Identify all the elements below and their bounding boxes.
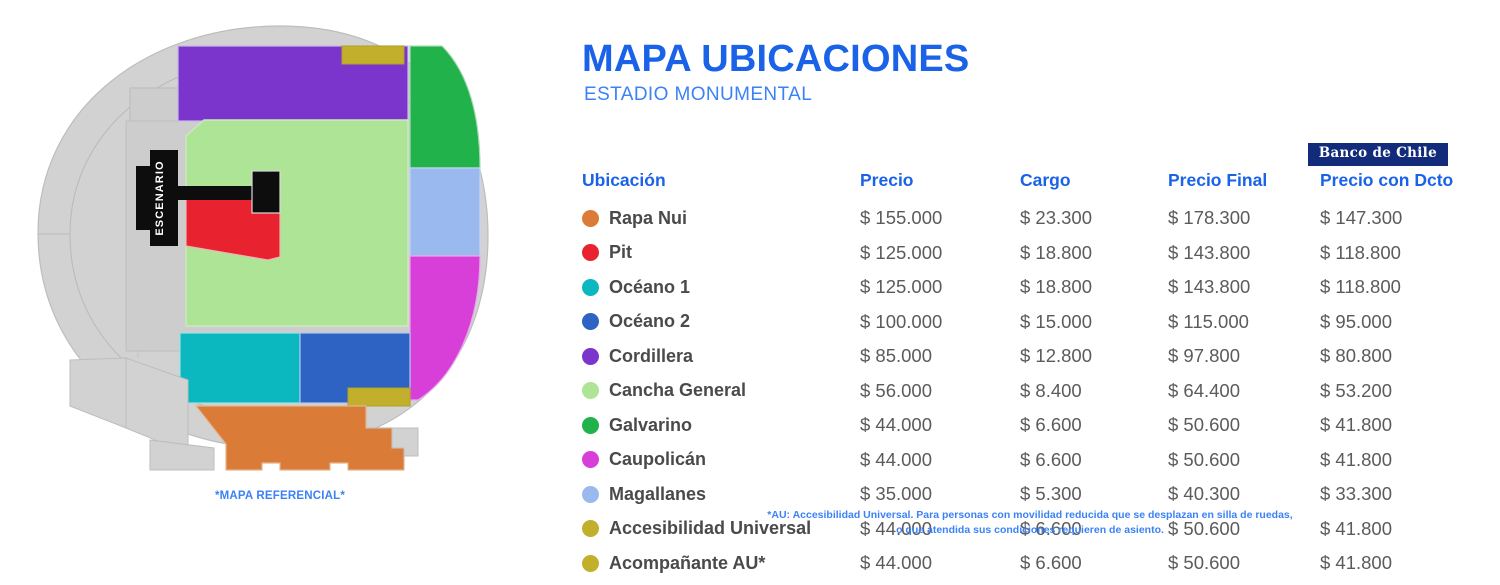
table-row: Cordillera$ 85.000$ 12.800$ 97.800$ 80.8… <box>582 343 1472 378</box>
grey-sector-lower-left-2 <box>70 358 126 428</box>
cell-precio-con-dcto: $ 41.800 <box>1320 447 1472 482</box>
map-zone-accesibilidad-bottom <box>348 388 410 406</box>
zone-color-dot <box>582 210 599 227</box>
table-row: Rapa Nui$ 155.000$ 23.300$ 178.300$ 147.… <box>582 205 1472 240</box>
cell-precio-con-dcto: $ 147.300 <box>1320 205 1472 240</box>
stage-label: ESCENARIO <box>154 160 166 235</box>
cell-precio-final: $ 178.300 <box>1168 205 1320 240</box>
cell-ubicacion: Caupolicán <box>582 447 860 482</box>
zone-label: Cordillera <box>609 346 693 367</box>
cell-precio-con-dcto: $ 118.800 <box>1320 274 1472 309</box>
cell-precio-final: $ 143.800 <box>1168 240 1320 275</box>
zone-label: Océano 2 <box>609 311 690 332</box>
cell-precio-final: $ 50.600 <box>1168 447 1320 482</box>
zone-label: Cancha General <box>609 380 746 401</box>
cell-cargo: $ 23.300 <box>1020 205 1168 240</box>
zone-color-dot <box>582 486 599 503</box>
map-caption: *MAPA REFERENCIAL* <box>0 490 560 502</box>
column-header-precio: Precio <box>860 170 1020 205</box>
map-zone-oceano-1 <box>180 333 300 403</box>
cell-precio: $ 44.000 <box>860 447 1020 482</box>
zone-label: Acompañante AU* <box>609 553 765 574</box>
zone-color-dot <box>582 555 599 572</box>
zone-color-dot <box>582 520 599 537</box>
cell-precio-final: $ 143.800 <box>1168 274 1320 309</box>
footnote-line-1: *AU: Accesibilidad Universal. Para perso… <box>620 508 1440 523</box>
zone-label: Magallanes <box>609 484 706 505</box>
cell-precio-final: $ 50.600 <box>1168 550 1320 585</box>
table-row: Océano 2$ 100.000$ 15.000$ 115.000$ 95.0… <box>582 309 1472 344</box>
table-row: Océano 1$ 125.000$ 18.800$ 143.800$ 118.… <box>582 274 1472 309</box>
cell-ubicacion: Océano 2 <box>582 309 860 344</box>
map-zone-caupolican <box>410 256 480 400</box>
cell-cargo: $ 18.800 <box>1020 274 1168 309</box>
cell-precio: $ 125.000 <box>860 274 1020 309</box>
cell-ubicacion: Acompañante AU* <box>582 550 860 585</box>
zone-label: Pit <box>609 242 632 263</box>
cell-cargo: $ 12.800 <box>1020 343 1168 378</box>
cell-ubicacion: Cordillera <box>582 343 860 378</box>
zone-label: Galvarino <box>609 415 692 436</box>
cell-precio: $ 44.000 <box>860 550 1020 585</box>
cell-cargo: $ 18.800 <box>1020 240 1168 275</box>
zone-color-dot <box>582 244 599 261</box>
cell-precio-con-dcto: $ 80.800 <box>1320 343 1472 378</box>
stadium-map-panel: ESCENARIO *MAPA REFERENCIAL* <box>0 0 560 563</box>
table-header-row: Ubicación Precio Cargo Precio Final Prec… <box>582 170 1472 205</box>
table-row: Pit$ 125.000$ 18.800$ 143.800$ 118.800 <box>582 240 1472 275</box>
footnote: *AU: Accesibilidad Universal. Para perso… <box>620 508 1440 538</box>
map-zone-magallanes <box>410 168 480 256</box>
cell-cargo: $ 6.600 <box>1020 412 1168 447</box>
cell-precio-con-dcto: $ 53.200 <box>1320 378 1472 413</box>
cell-precio: $ 44.000 <box>860 412 1020 447</box>
zone-label: Caupolicán <box>609 449 706 470</box>
zone-label: Rapa Nui <box>609 208 687 229</box>
zone-color-dot <box>582 313 599 330</box>
cell-cargo: $ 6.600 <box>1020 550 1168 585</box>
zone-color-dot <box>582 417 599 434</box>
column-header-precio-con-dcto: Precio con Dcto <box>1320 170 1472 205</box>
column-header-ubicacion: Ubicación <box>582 170 860 205</box>
table-row: Caupolicán$ 44.000$ 6.600$ 50.600$ 41.80… <box>582 447 1472 482</box>
cell-precio: $ 56.000 <box>860 378 1020 413</box>
cell-ubicacion: Galvarino <box>582 412 860 447</box>
stadium-map-svg: ESCENARIO <box>18 8 538 488</box>
cell-cargo: $ 15.000 <box>1020 309 1168 344</box>
cell-precio: $ 100.000 <box>860 309 1020 344</box>
page-subtitle: ESTADIO MONUMENTAL <box>584 84 969 106</box>
cell-precio-con-dcto: $ 41.800 <box>1320 412 1472 447</box>
column-header-precio-final: Precio Final <box>1168 170 1320 205</box>
cell-precio-final: $ 50.600 <box>1168 412 1320 447</box>
zone-color-dot <box>582 348 599 365</box>
table-row: Acompañante AU*$ 44.000$ 6.600$ 50.600$ … <box>582 550 1472 585</box>
zone-color-dot <box>582 279 599 296</box>
column-header-cargo: Cargo <box>1020 170 1168 205</box>
cell-ubicacion: Cancha General <box>582 378 860 413</box>
cell-precio-con-dcto: $ 95.000 <box>1320 309 1472 344</box>
cell-precio: $ 155.000 <box>860 205 1020 240</box>
cell-cargo: $ 6.600 <box>1020 447 1168 482</box>
map-zone-accesibilidad-top <box>342 46 404 64</box>
cell-precio-con-dcto: $ 118.800 <box>1320 240 1472 275</box>
grey-sector-bottom-left <box>150 440 214 470</box>
cell-cargo: $ 8.400 <box>1020 378 1168 413</box>
zone-color-dot <box>582 451 599 468</box>
cell-ubicacion: Rapa Nui <box>582 205 860 240</box>
cell-precio: $ 85.000 <box>860 343 1020 378</box>
info-panel: MAPA UBICACIONES ESTADIO MONUMENTAL Banc… <box>560 0 1500 563</box>
cell-precio-con-dcto: $ 41.800 <box>1320 550 1472 585</box>
table-row: Cancha General$ 56.000$ 8.400$ 64.400$ 5… <box>582 378 1472 413</box>
table-row: Galvarino$ 44.000$ 6.600$ 50.600$ 41.800 <box>582 412 1472 447</box>
title-block: MAPA UBICACIONES ESTADIO MONUMENTAL <box>582 40 969 106</box>
cell-precio-final: $ 115.000 <box>1168 309 1320 344</box>
zone-color-dot <box>582 382 599 399</box>
cell-precio-final: $ 97.800 <box>1168 343 1320 378</box>
cell-precio-final: $ 64.400 <box>1168 378 1320 413</box>
cell-ubicacion: Océano 1 <box>582 274 860 309</box>
zone-label: Océano 1 <box>609 277 690 298</box>
page-title: MAPA UBICACIONES <box>582 40 969 78</box>
footnote-line-2: o que atendida sus condiciones requieren… <box>620 523 1440 538</box>
banco-de-chile-logo: Banco de Chile <box>1308 143 1448 166</box>
cell-precio: $ 125.000 <box>860 240 1020 275</box>
cell-ubicacion: Pit <box>582 240 860 275</box>
map-zone-galvarino-body <box>410 46 480 168</box>
